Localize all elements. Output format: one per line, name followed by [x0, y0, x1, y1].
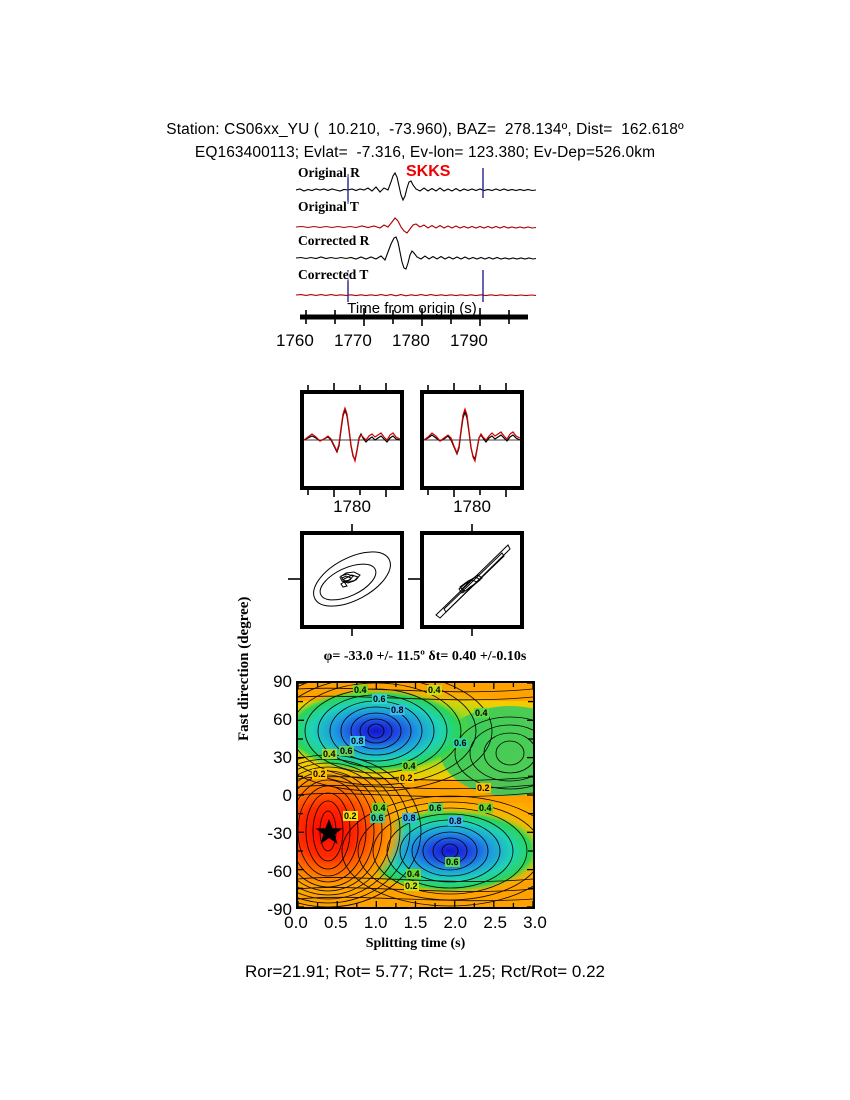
x-tick-2-0: 2.0	[433, 913, 477, 933]
particle-panel-right-bottom-tick	[420, 628, 526, 636]
contour-label-19: 0.8	[448, 816, 463, 826]
quality-stats-line: Ror=21.91; Rot= 5.77; Rct= 1.25; Rct/Rot…	[0, 962, 850, 982]
contour-label-8: 0.4	[322, 749, 337, 759]
trace-row-corrected-r: Corrected R	[296, 236, 536, 271]
contour-label-7: 0.6	[339, 746, 354, 756]
time-tick-1790: 1790	[450, 331, 488, 351]
contour-label-1: 0.6	[372, 694, 387, 704]
waveform-stack: SKKS Original R Original T Corrected R	[296, 168, 536, 308]
contour-surface: 0.4 0.6 0.8 0.4 0.4 0.6 0.8 0.6 0.4 0.2 …	[296, 681, 535, 909]
contour-label-15: 0.6	[370, 813, 385, 823]
y-tick-neg60: -60	[240, 862, 292, 882]
x-tick-2-5: 2.5	[473, 913, 517, 933]
time-axis-title: Time from origin (s)	[296, 300, 528, 317]
event-info-line: EQ163400113; Evlat= -7.316, Ev-lon= 123.…	[0, 141, 850, 164]
contour-label-5: 0.6	[453, 738, 468, 748]
trace-row-original-t: Original T	[296, 202, 536, 237]
particle-motion-ellipse-uncorrected	[304, 535, 400, 625]
time-tick-1760: 1760	[276, 331, 314, 351]
time-tick-1780: 1780	[392, 331, 430, 351]
contour-label-6: 0.8	[350, 736, 365, 746]
y-tick-60: 60	[240, 710, 292, 730]
x-tick-0-0: 0.0	[274, 913, 318, 933]
compare-traces-right	[424, 394, 520, 486]
trace-label-corrected-t: Corrected T	[298, 267, 368, 283]
contour-label-20: 0.6	[445, 857, 460, 867]
splitting-result-label: φ= -33.0 +/- 11.5º δt= 0.40 +/-0.10s	[0, 649, 850, 665]
contour-x-axis-label: Splitting time (s)	[296, 936, 535, 952]
contour-label-9: 0.2	[312, 769, 327, 779]
contour-label-11: 0.2	[399, 773, 414, 783]
error-surface-plot: Fast direction (degree) Splitting time (…	[296, 681, 535, 909]
compare-panel-left-caption: 1780	[304, 497, 400, 517]
y-tick-0: 0	[240, 786, 292, 806]
skks-phase-label: SKKS	[406, 163, 450, 181]
particle-motion-line-corrected	[424, 535, 520, 625]
particle-motion-panel-corrected	[420, 531, 524, 629]
time-axis-ticklabels: 1760 1770 1780 1790	[276, 331, 548, 355]
particle-motion-panel-uncorrected	[300, 531, 404, 629]
particle-panel-left-bottom-tick	[300, 628, 406, 636]
compare-panel-left-bottom-ticks	[300, 489, 406, 497]
compare-panel-left	[300, 390, 404, 490]
contour-label-13: 0.2	[343, 811, 358, 821]
contour-label-10: 0.4	[402, 761, 417, 771]
x-tick-0-5: 0.5	[314, 913, 358, 933]
y-tick-30: 30	[240, 748, 292, 768]
contour-label-12: 0.2	[476, 783, 491, 793]
contour-label-3: 0.4	[427, 685, 442, 695]
compare-panel-right-caption: 1780	[424, 497, 520, 517]
y-tick-90: 90	[240, 672, 292, 692]
contour-label-17: 0.4	[478, 803, 493, 813]
compare-traces-left	[304, 394, 400, 486]
contour-label-21: 0.4	[406, 869, 421, 879]
contour-label-22: 0.2	[404, 881, 419, 891]
contour-label-4: 0.4	[474, 708, 489, 718]
contour-label-2: 0.8	[390, 705, 405, 715]
x-tick-3-0: 3.0	[513, 913, 557, 933]
contour-label-14: 0.4	[372, 803, 387, 813]
contour-label-18: 0.8	[402, 813, 417, 823]
x-tick-1-5: 1.5	[394, 913, 438, 933]
y-tick-neg30: -30	[240, 824, 292, 844]
trace-label-corrected-r: Corrected R	[298, 233, 369, 249]
compare-panel-right-bottom-ticks	[420, 489, 526, 497]
contour-label-16: 0.6	[428, 803, 443, 813]
trace-label-original-t: Original T	[298, 199, 359, 215]
figure-page: Station: CS06xx_YU ( 10.210, -73.960), B…	[0, 0, 850, 1100]
contour-label-0: 0.4	[353, 685, 368, 695]
station-info-line: Station: CS06xx_YU ( 10.210, -73.960), B…	[0, 118, 850, 141]
time-tick-1770: 1770	[334, 331, 372, 351]
trace-label-original-r: Original R	[298, 165, 360, 181]
x-tick-1-0: 1.0	[354, 913, 398, 933]
figure-header: Station: CS06xx_YU ( 10.210, -73.960), B…	[0, 118, 850, 164]
compare-panel-right	[420, 390, 524, 490]
